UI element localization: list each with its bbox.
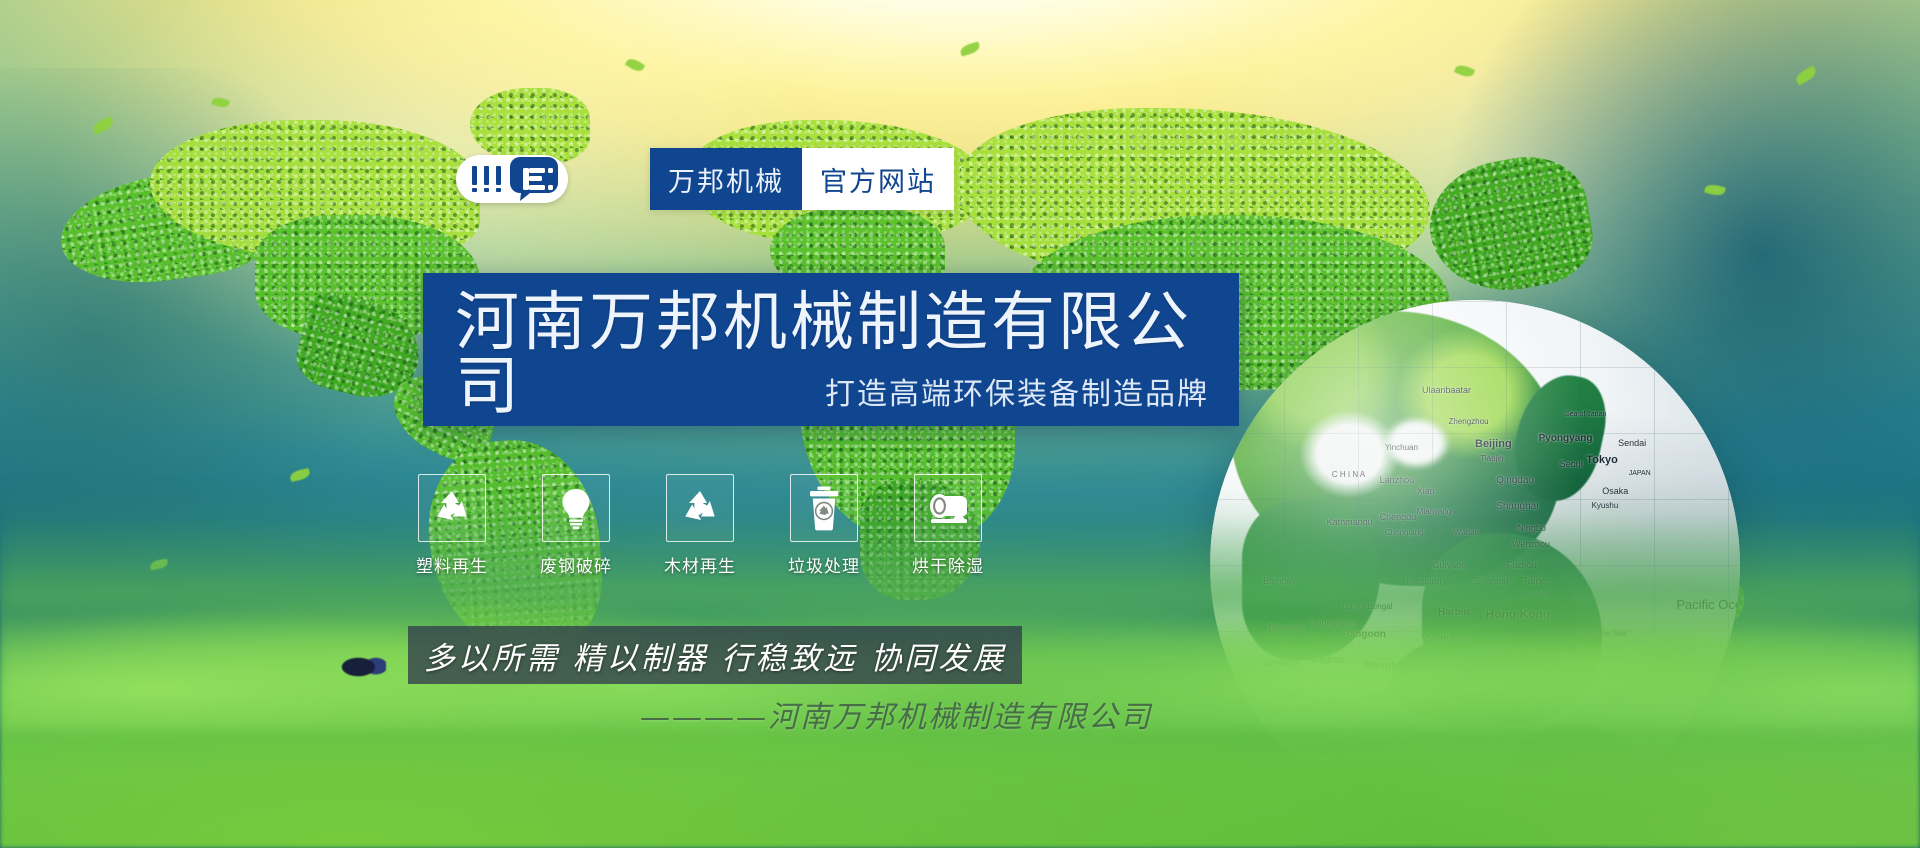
feature-label: 烘干除湿 (912, 552, 984, 577)
feature-scrap-steel-crushing[interactable]: 废钢破碎 (542, 474, 610, 577)
feature-label: 垃圾处理 (788, 552, 860, 577)
feature-icon-box (914, 474, 982, 542)
page-subtitle: 打造高端环保装备制造品牌 (825, 380, 1209, 410)
feature-icon-row: 塑料再生 废钢破碎 木材再生 (418, 474, 982, 577)
feature-icon-box (666, 474, 734, 542)
feature-waste-treatment[interactable]: 垃圾处理 (790, 474, 858, 577)
nav-tab-company[interactable]: 万邦机械 (650, 148, 802, 210)
feature-label: 塑料再生 (416, 552, 488, 577)
feature-plastic-recycling[interactable]: 塑料再生 (418, 474, 486, 577)
slogan-signature: ————河南万邦机械制造有限公司 (640, 692, 1152, 736)
feature-icon-box (418, 474, 486, 542)
site-nav: 万邦机械 官方网站 (650, 148, 954, 210)
feature-label: 废钢破碎 (540, 552, 612, 577)
w-letter-mark (470, 164, 504, 194)
trash-bin-recycle-icon (805, 485, 843, 531)
b-speech-bubble-mark (508, 155, 560, 203)
feature-wood-recycling[interactable]: 木材再生 (666, 474, 734, 577)
feature-icon-box (542, 474, 610, 542)
nav-tab-official-site[interactable]: 官方网站 (802, 148, 954, 210)
slogan-banner: 多以所需 精以制器 行稳致远 协同发展 (408, 626, 1022, 684)
lightbulb-icon (555, 486, 597, 530)
feature-label: 木材再生 (664, 552, 736, 577)
recycle-icon (678, 486, 722, 530)
banner-stage: UlaanbaatarBeijingZhengzhouYinchuanLanzh… (0, 0, 1920, 848)
feature-drying-dehumidifying[interactable]: 烘干除湿 (914, 474, 982, 577)
blower-dryer-icon (925, 491, 971, 525)
hero-title-panel: 河南万邦机械制造有限公司 打造高端环保装备制造品牌 (423, 273, 1239, 426)
insect (340, 656, 386, 678)
company-logo[interactable] (456, 155, 568, 203)
recycle-icon (430, 486, 474, 530)
slogan-text: 多以所需 精以制器 行稳致远 协同发展 (424, 633, 1007, 678)
feature-icon-box (790, 474, 858, 542)
